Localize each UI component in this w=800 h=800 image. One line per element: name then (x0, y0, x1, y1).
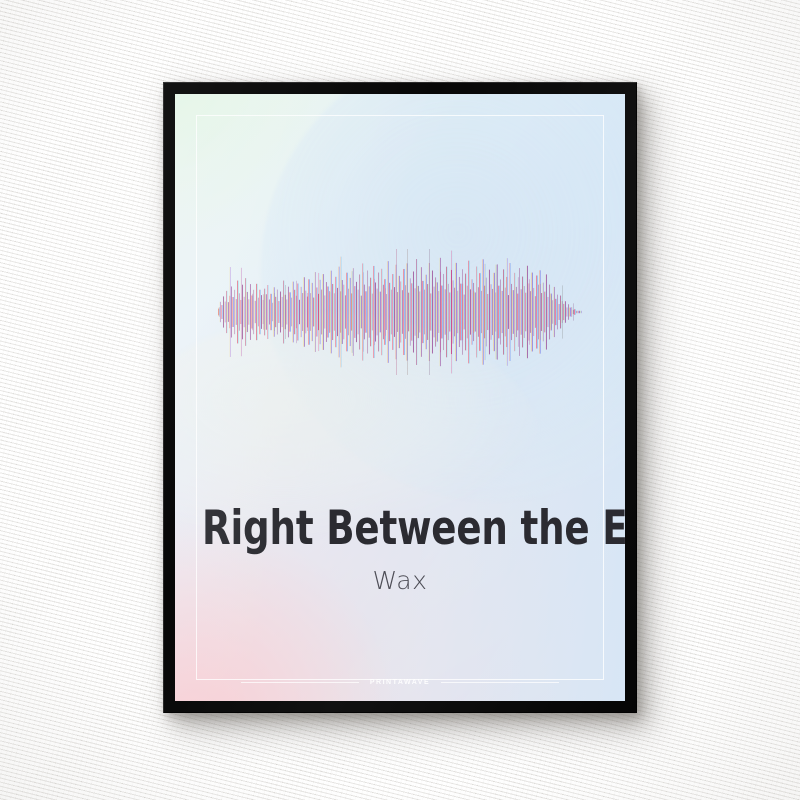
poster-pink-corner-glow (175, 94, 625, 701)
soundwave-bars (218, 249, 581, 375)
footer-rule-left (241, 682, 359, 683)
picture-frame: Right Between the Eyes Wax PRINTAWAVE (163, 82, 637, 713)
poster-artwork: Right Between the Eyes Wax PRINTAWAVE (175, 94, 625, 701)
footer-rule-right (441, 682, 559, 683)
wall-background: Right Between the Eyes Wax PRINTAWAVE (0, 0, 800, 800)
poster-footer: PRINTAWAVE (205, 679, 595, 686)
soundwave-svg (218, 249, 582, 375)
poster-title: Right Between the Eyes (202, 505, 598, 552)
poster-artist: Wax (175, 566, 625, 595)
brand-watermark: PRINTAWAVE (370, 679, 430, 686)
soundwave-graphic (218, 249, 582, 375)
